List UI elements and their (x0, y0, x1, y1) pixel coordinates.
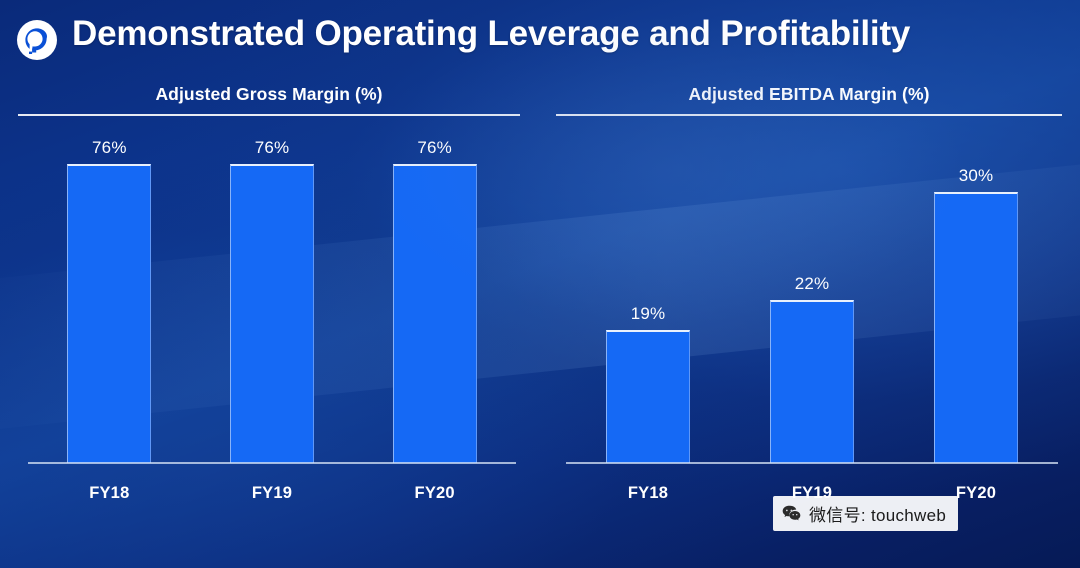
bar-value-label: 30% (959, 166, 994, 186)
plot-area-gross-margin: 76% 76% 76% FY18 FY19 FY20 (18, 124, 520, 537)
page-title: Demonstrated Operating Leverage and Prof… (72, 14, 910, 54)
title-divider-right (556, 114, 1062, 116)
wechat-icon (781, 503, 802, 524)
bar-slot: 76% (28, 124, 191, 463)
x-axis-tick-labels-left: FY18 FY19 FY20 (28, 484, 516, 503)
digitalocean-droplet-logo-icon (17, 20, 57, 60)
bar (230, 164, 314, 463)
bar-group-ebitda-margin: 19% 22% 30% (566, 124, 1058, 463)
chart-panel-gross-margin: Adjusted Gross Margin (%) 76% 76% 76% (18, 84, 520, 554)
bar-slot: 22% (730, 124, 894, 463)
bar (770, 300, 854, 463)
slide-header: Demonstrated Operating Leverage and Prof… (0, 0, 1080, 78)
x-axis-line-right (566, 462, 1058, 464)
bar (934, 192, 1018, 463)
title-divider-left (18, 114, 520, 116)
chart-title-gross-margin: Adjusted Gross Margin (%) (18, 84, 520, 105)
bar-value-label: 76% (92, 138, 127, 158)
slide-canvas: Demonstrated Operating Leverage and Prof… (0, 0, 1080, 568)
wechat-watermark: 微信号: touchweb (773, 496, 958, 531)
bar-group-gross-margin: 76% 76% 76% (28, 124, 516, 463)
bar (67, 164, 151, 463)
bar (606, 330, 690, 463)
watermark-text: 微信号: touchweb (809, 501, 946, 526)
bar-value-label: 76% (417, 138, 452, 158)
x-tick-label: FY19 (191, 484, 354, 503)
bar-value-label: 76% (255, 138, 290, 158)
x-tick-label: FY18 (566, 484, 730, 503)
chart-panel-ebitda-margin: Adjusted EBITDA Margin (%) 19% 22% 30% (556, 84, 1062, 554)
bar (393, 164, 477, 463)
bar-slot: 30% (894, 124, 1058, 463)
x-tick-label: FY20 (353, 484, 516, 503)
x-axis-line-left (28, 462, 516, 464)
x-tick-label: FY18 (28, 484, 191, 503)
bar-value-label: 22% (795, 274, 830, 294)
chart-title-ebitda-margin: Adjusted EBITDA Margin (%) (556, 84, 1062, 105)
plot-area-ebitda-margin: 19% 22% 30% FY18 FY19 FY20 (556, 124, 1062, 537)
bar-slot: 76% (191, 124, 354, 463)
bar-slot: 19% (566, 124, 730, 463)
bar-value-label: 19% (631, 304, 666, 324)
bar-slot: 76% (353, 124, 516, 463)
